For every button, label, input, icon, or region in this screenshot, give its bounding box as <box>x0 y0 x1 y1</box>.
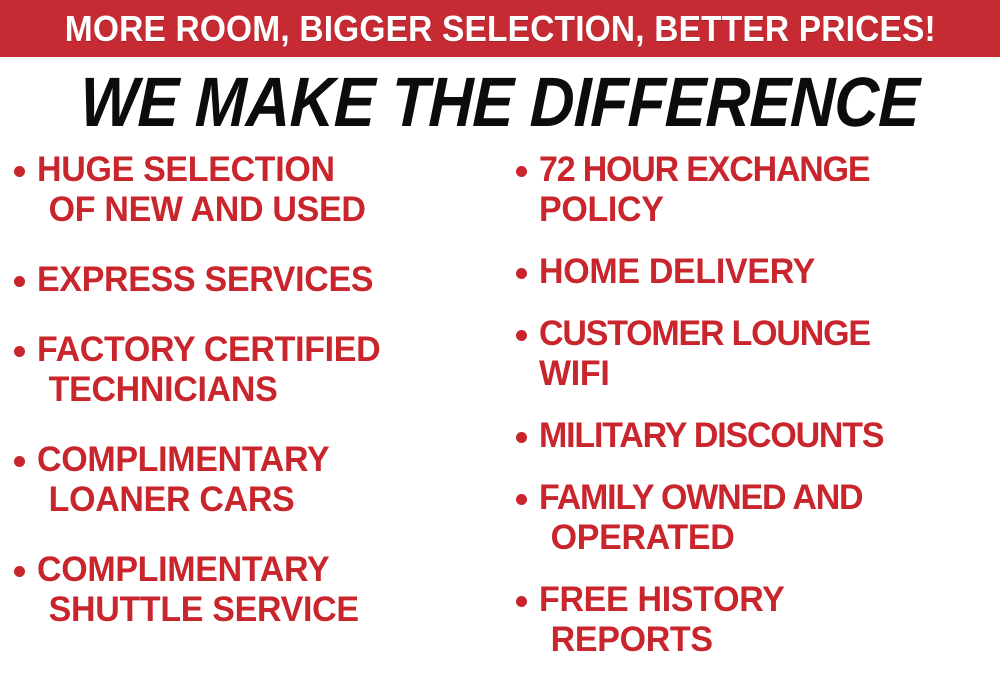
list-item-line-2: TECHNICIANS <box>37 370 490 410</box>
list-item: FREE HISTORY REPORTS <box>516 580 1000 660</box>
list-item-line-2: WIFI <box>539 354 986 394</box>
bullet-dot-icon <box>516 268 527 279</box>
bullet-dot-icon <box>14 166 25 177</box>
list-item-text: CUSTOMER LOUNGE WIFI <box>539 314 1000 394</box>
features-columns: HUGE SELECTION OF NEW AND USED EXPRESS S… <box>0 150 1000 694</box>
list-item: HUGE SELECTION OF NEW AND USED <box>14 150 504 230</box>
list-item-text: FAMILY OWNED AND OPERATED <box>539 478 1000 558</box>
list-item-text: COMPLIMENTARY SHUTTLE SERVICE <box>37 550 504 630</box>
bullet-dot-icon <box>516 494 527 505</box>
bullet-dot-icon <box>14 566 25 577</box>
list-item-line-2: LOANER CARS <box>37 480 490 520</box>
bullet-dot-icon <box>14 346 25 357</box>
list-item: FACTORY CERTIFIED TECHNICIANS <box>14 330 504 410</box>
list-item-line-2: SHUTTLE SERVICE <box>37 590 490 630</box>
list-item-text: 72 HOUR EXCHANGE POLICY <box>539 150 1000 230</box>
list-item-line-1: FACTORY CERTIFIED <box>37 330 490 370</box>
page-title: WE MAKE THE DIFFERENCE <box>79 67 920 137</box>
list-item-line-1: 72 HOUR EXCHANGE <box>539 150 986 190</box>
list-item: HOME DELIVERY <box>516 252 1000 292</box>
list-item: COMPLIMENTARY SHUTTLE SERVICE <box>14 550 504 630</box>
list-item-line-2: POLICY <box>539 190 986 230</box>
list-item-line-1: FREE HISTORY <box>539 580 986 620</box>
promo-banner-text: MORE ROOM, BIGGER SELECTION, BETTER PRIC… <box>64 11 935 47</box>
features-column-right: 72 HOUR EXCHANGE POLICY HOME DELIVERY CU… <box>516 150 1000 694</box>
list-item-line-1: HUGE SELECTION <box>37 150 490 190</box>
bullet-dot-icon <box>14 456 25 467</box>
list-item-line-1: HOME DELIVERY <box>539 252 986 292</box>
list-item: FAMILY OWNED AND OPERATED <box>516 478 1000 558</box>
list-item: 72 HOUR EXCHANGE POLICY <box>516 150 1000 230</box>
list-item-line-1: COMPLIMENTARY <box>37 550 490 590</box>
list-item-line-2: OPERATED <box>539 518 986 558</box>
bullet-dot-icon <box>516 166 527 177</box>
list-item-line-1: FAMILY OWNED AND <box>539 478 986 518</box>
headline-container: WE MAKE THE DIFFERENCE <box>0 66 1000 138</box>
list-item-text: MILITARY DISCOUNTS <box>539 416 1000 456</box>
list-item-text: HUGE SELECTION OF NEW AND USED <box>37 150 504 230</box>
list-item: MILITARY DISCOUNTS <box>516 416 1000 456</box>
list-item-text: HOME DELIVERY <box>539 252 1000 292</box>
list-item: EXPRESS SERVICES <box>14 260 504 300</box>
list-item-line-2: REPORTS <box>539 620 986 660</box>
features-column-left: HUGE SELECTION OF NEW AND USED EXPRESS S… <box>14 150 504 694</box>
list-item-text: COMPLIMENTARY LOANER CARS <box>37 440 504 520</box>
bullet-dot-icon <box>516 596 527 607</box>
list-item-line-2: OF NEW AND USED <box>37 190 490 230</box>
promo-banner: MORE ROOM, BIGGER SELECTION, BETTER PRIC… <box>0 0 1000 57</box>
list-item-line-1: EXPRESS SERVICES <box>37 260 490 300</box>
list-item-text: EXPRESS SERVICES <box>37 260 504 300</box>
list-item: CUSTOMER LOUNGE WIFI <box>516 314 1000 394</box>
bullet-dot-icon <box>516 330 527 341</box>
list-item-line-1: MILITARY DISCOUNTS <box>539 416 986 456</box>
bullet-dot-icon <box>14 276 25 287</box>
list-item: COMPLIMENTARY LOANER CARS <box>14 440 504 520</box>
list-item-text: FREE HISTORY REPORTS <box>539 580 1000 660</box>
bullet-dot-icon <box>516 432 527 443</box>
list-item-text: FACTORY CERTIFIED TECHNICIANS <box>37 330 504 410</box>
list-item-line-1: CUSTOMER LOUNGE <box>539 314 986 354</box>
list-item-line-1: COMPLIMENTARY <box>37 440 490 480</box>
